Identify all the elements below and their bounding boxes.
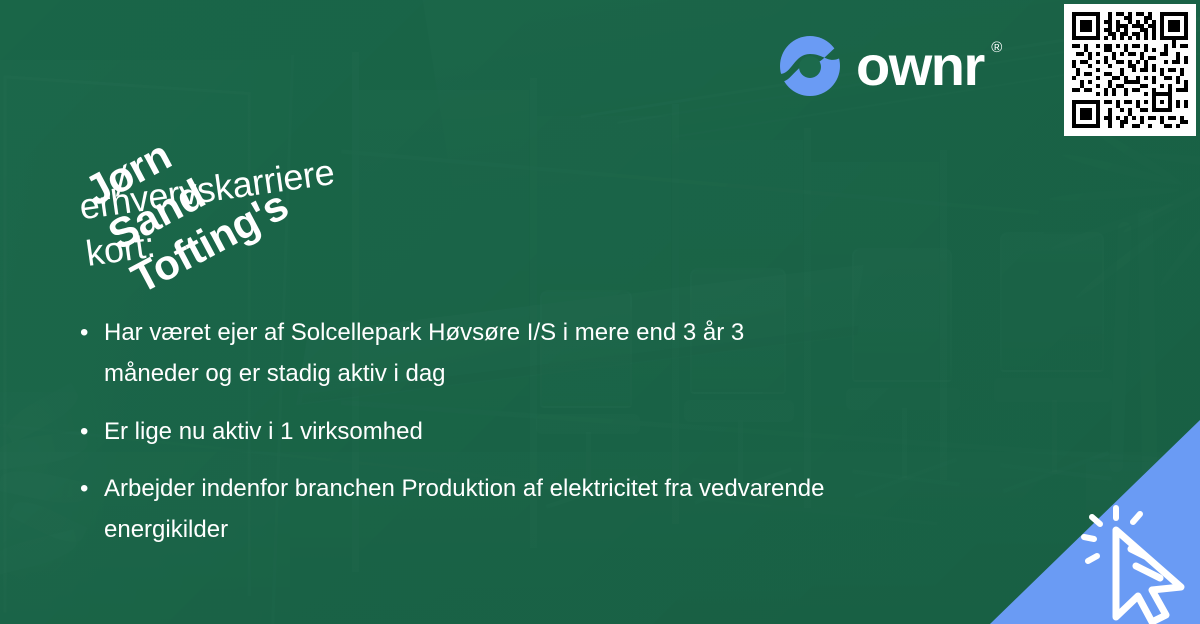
- qr-code[interactable]: [1064, 4, 1196, 136]
- list-item: Har været ejer af Solcellepark Høvsøre I…: [78, 312, 838, 395]
- ownr-wordmark: ownr®: [856, 38, 984, 94]
- career-facts-list: Har været ejer af Solcellepark Høvsøre I…: [78, 312, 838, 566]
- qr-code-icon: [1072, 12, 1188, 128]
- brand-name: ownr: [856, 34, 984, 97]
- ownr-logo[interactable]: ownr®: [778, 34, 984, 98]
- page-title: Jørn Sand Tofting's erhvervskarriere kor…: [78, 152, 838, 206]
- ownr-circle-swoosh-icon: [778, 34, 842, 98]
- business-card-banner: ownr® Jørn Sand Tofting's erhvervskarrie…: [0, 0, 1200, 624]
- registered-trademark-symbol: ®: [991, 40, 1001, 55]
- list-item: Arbejder indenfor branchen Produktion af…: [78, 468, 838, 551]
- list-item: Er lige nu aktiv i 1 virksomhed: [78, 411, 838, 452]
